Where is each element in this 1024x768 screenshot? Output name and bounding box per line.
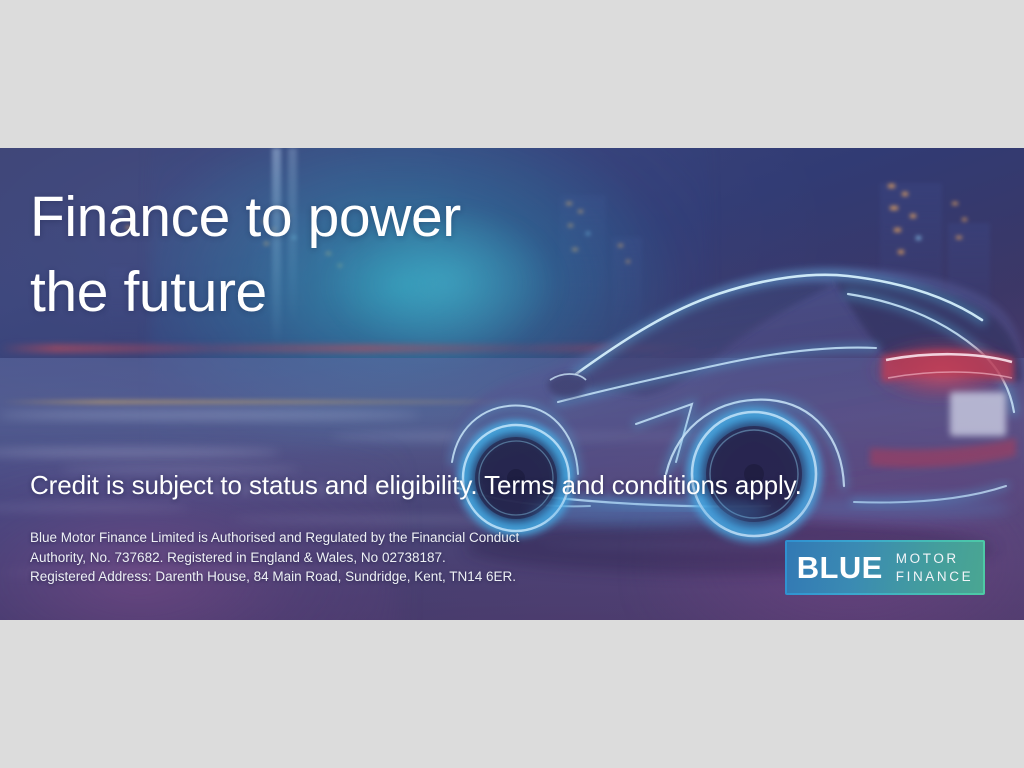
logo-primary-text: BLUE bbox=[797, 552, 883, 583]
blue-motor-finance-logo[interactable]: BLUE MOTOR FINANCE bbox=[785, 540, 985, 595]
logo-secondary-line-2: FINANCE bbox=[896, 569, 973, 584]
logo-secondary-line-1: MOTOR bbox=[896, 551, 973, 566]
motion-streak bbox=[0, 410, 420, 420]
logo-secondary-text: MOTOR FINANCE bbox=[896, 551, 973, 583]
headline: Finance to power the future bbox=[30, 180, 461, 330]
tagline: Credit is subject to status and eligibil… bbox=[30, 470, 802, 501]
page-root: Finance to power the future Credit is su… bbox=[0, 0, 1024, 768]
finance-banner: Finance to power the future Credit is su… bbox=[0, 148, 1024, 620]
legal-fineprint: Blue Motor Finance Limited is Authorised… bbox=[30, 528, 519, 587]
